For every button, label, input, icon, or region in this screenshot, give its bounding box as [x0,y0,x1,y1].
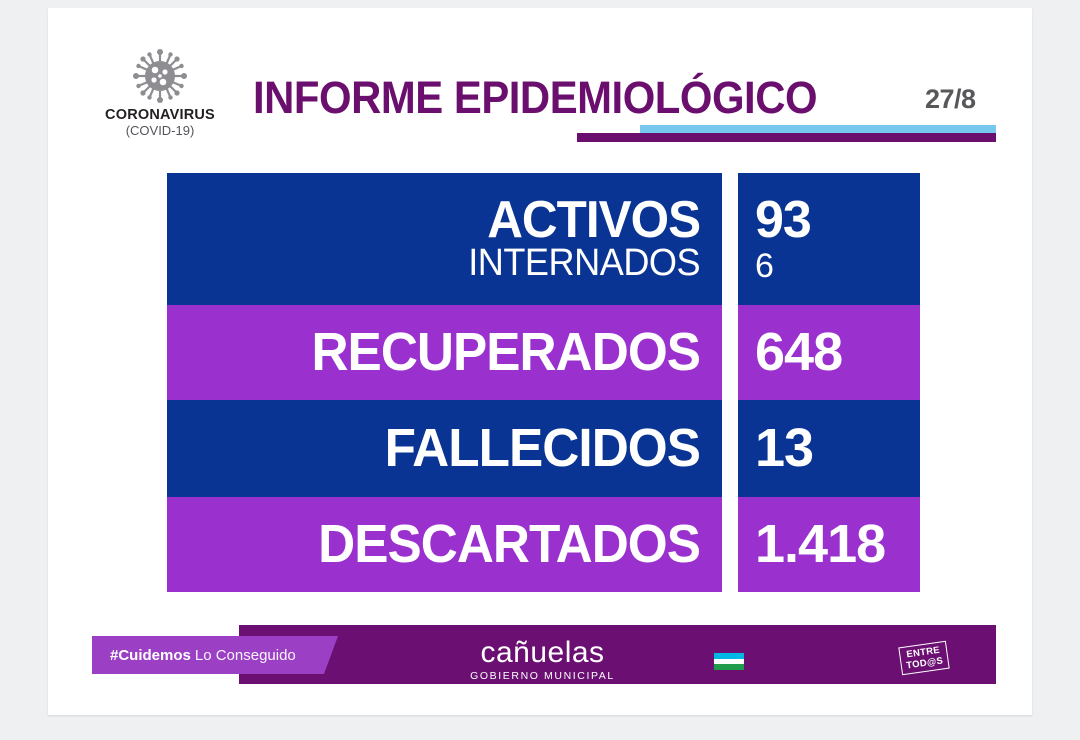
table-row: 1.418 [738,497,920,592]
stats-label-column: ACTIVOS INTERNADOS RECUPERADOS FALLECIDO… [167,173,722,592]
stats-table: ACTIVOS INTERNADOS RECUPERADOS FALLECIDO… [167,173,920,592]
table-row: FALLECIDOS [167,400,722,497]
stat-value-activos: 93 [755,196,811,245]
stat-sublabel-internados: INTERNADOS [468,246,700,281]
table-row: 13 [738,400,920,497]
campaign-tag-hashtag: #Cuidemos [110,647,191,664]
municipality-name: cañuelas [460,638,625,668]
coronavirus-icon [129,48,191,104]
table-row: ACTIVOS INTERNADOS [167,173,722,305]
stat-value-recuperados: 648 [755,327,842,378]
stat-label-descartados: DESCARTADOS [318,520,700,570]
stat-label-recuperados: RECUPERADOS [311,328,700,378]
flag-icon [714,653,744,670]
page-title: INFORME EPIDEMIOLÓGICO [253,72,817,124]
stat-value-fallecidos: 13 [755,423,813,474]
municipality-subtitle: GOBIERNO MUNICIPAL [460,670,625,682]
stat-label-activos: ACTIVOS [468,197,700,245]
table-row: RECUPERADOS [167,305,722,400]
covid-19-label: (COVID-19) [95,124,225,139]
municipality-logo: cañuelas GOBIERNO MUNICIPAL [460,638,625,682]
coronavirus-label: CORONAVIRUS [95,108,225,123]
table-row: 93 6 [738,173,920,305]
campaign-tag: #CuidemosLo Conseguido [92,636,338,674]
stat-label-fallecidos: FALLECIDOS [385,424,700,474]
stats-value-column: 93 6 648 13 1.418 [738,173,920,592]
stat-value-internados: 6 [755,250,811,282]
header-rule-blue [640,125,996,133]
screenshot-root: CORONAVIRUS (COVID-19) INFORME EPIDEMIOL… [0,0,1080,740]
campaign-tag-text: Lo Conseguido [195,647,296,664]
header-rule-purple [577,133,996,142]
report-date: 27/8 [925,84,976,115]
stat-value-descartados: 1.418 [755,519,885,570]
table-row: DESCARTADOS [167,497,722,592]
report-slide: CORONAVIRUS (COVID-19) INFORME EPIDEMIOL… [48,8,1032,715]
table-row: 648 [738,305,920,400]
coronavirus-logo: CORONAVIRUS (COVID-19) [95,48,225,139]
